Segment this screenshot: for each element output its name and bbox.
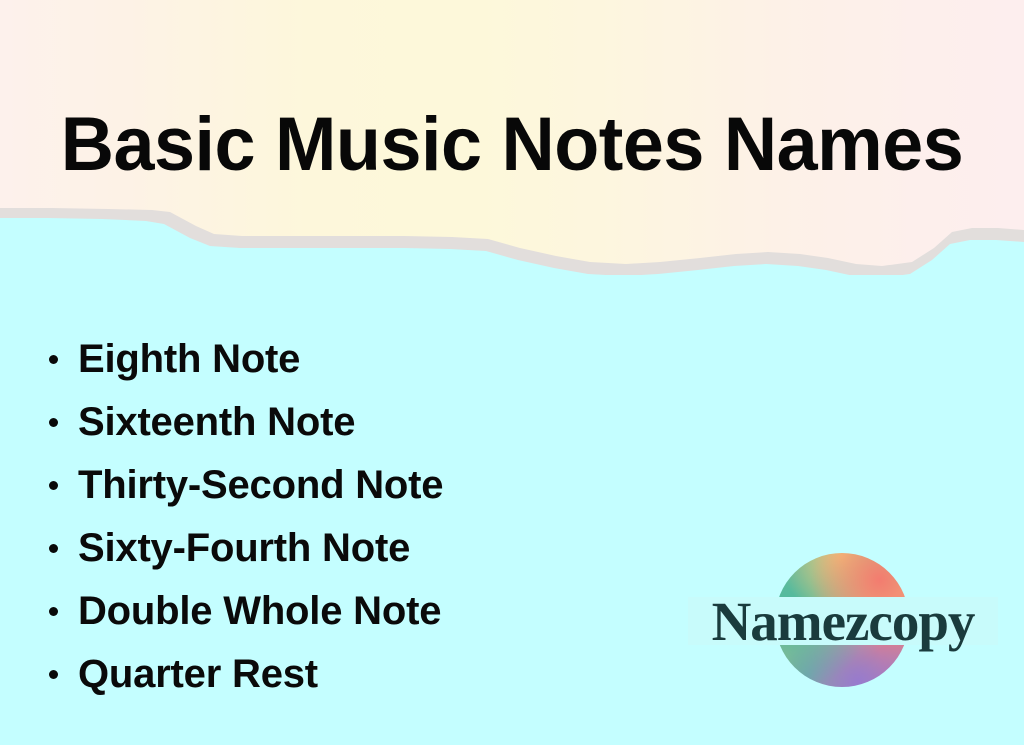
list-item-label: Double Whole Note xyxy=(78,589,441,633)
bullet-dot-icon xyxy=(49,670,58,679)
page-title: Basic Music Notes Names xyxy=(15,101,1008,189)
bullet-dot-icon xyxy=(49,355,58,364)
list-item: Double Whole Note xyxy=(44,579,443,642)
bullet-dot-icon xyxy=(49,544,58,553)
list-item-label: Quarter Rest xyxy=(78,652,318,696)
list-item: Eighth Note xyxy=(44,327,443,390)
list-item: Thirty-Second Note xyxy=(44,453,443,516)
list-item-label: Eighth Note xyxy=(78,337,300,381)
poster-canvas: Basic Music Notes Names Eighth Note Sixt… xyxy=(0,0,1024,745)
list-item: Sixteenth Note xyxy=(44,390,443,453)
music-note-list: Eighth Note Sixteenth Note Thirty-Second… xyxy=(44,327,443,705)
list-item-label: Sixty-Fourth Note xyxy=(78,526,410,570)
list-item-label: Sixteenth Note xyxy=(78,400,355,444)
list-item: Sixty-Fourth Note xyxy=(44,516,443,579)
list-item: Quarter Rest xyxy=(44,642,443,705)
bullet-dot-icon xyxy=(49,607,58,616)
logo-wordmark: Namezcopy xyxy=(688,593,998,651)
header-panel: Basic Music Notes Names xyxy=(0,0,1024,275)
bullet-dot-icon xyxy=(49,418,58,427)
bullet-dot-icon xyxy=(49,481,58,490)
brand-logo: Namezcopy xyxy=(688,550,998,692)
list-item-label: Thirty-Second Note xyxy=(78,463,443,507)
